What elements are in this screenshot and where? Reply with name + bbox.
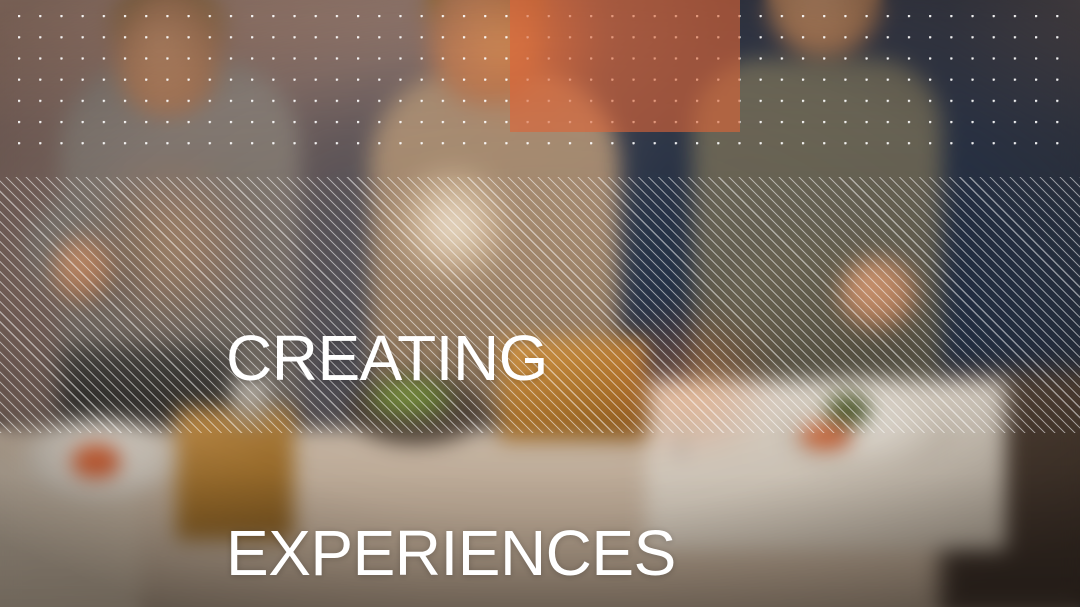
page-title: CREATING EXPERIENCES AT HOME xyxy=(226,196,676,607)
headline-line-1: CREATING xyxy=(226,326,676,391)
title-card-slide: CREATING EXPERIENCES AT HOME xyxy=(0,0,1080,607)
orange-accent-rectangle xyxy=(510,0,740,132)
headline-line-2: EXPERIENCES xyxy=(226,521,676,586)
